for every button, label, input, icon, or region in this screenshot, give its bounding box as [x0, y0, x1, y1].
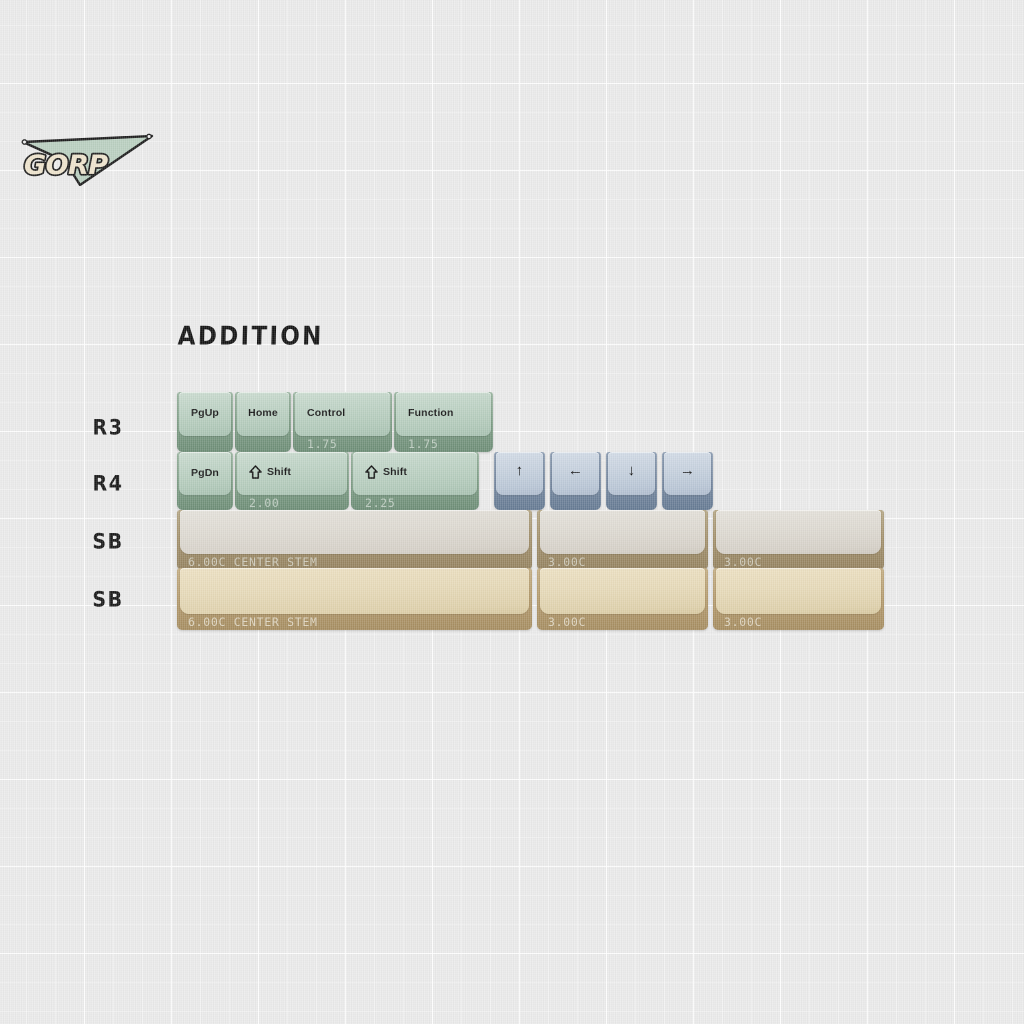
gorp-wordmark: GORP: [24, 150, 108, 181]
legend-text: Home: [248, 407, 278, 419]
keycap-size-label: 6.00C CENTER STEM: [188, 555, 318, 569]
keycap-top: [716, 510, 881, 554]
keycap-size-label: 1.75: [307, 437, 338, 451]
legend-text: Control: [307, 407, 345, 419]
keycap-pgup[interactable]: PgUp: [177, 392, 233, 452]
keycap-size-label: 1.75: [408, 437, 439, 451]
spacebar-white-3u-b[interactable]: 3.00C: [713, 510, 884, 570]
keycap-control[interactable]: Control 1.75: [293, 392, 392, 452]
spacebar-tan-3u-b[interactable]: 3.00C: [713, 568, 884, 630]
keycap-top: [716, 568, 881, 614]
spacebar-tan-3u-a[interactable]: 3.00C: [537, 568, 708, 630]
keycap-arrow-up[interactable]: ↑: [494, 452, 545, 510]
keycap-arrow-right[interactable]: →: [662, 452, 713, 510]
keycap-size-label: 3.00C: [548, 615, 586, 629]
legend-text: Function: [408, 407, 454, 419]
gorp-logo: GORP: [16, 124, 161, 186]
keycap-legend: Home: [235, 407, 291, 419]
keycap-top: [180, 510, 529, 554]
keycap-size-label: 3.00C: [724, 615, 762, 629]
keycap-legend: →: [662, 463, 713, 478]
row-label-sb2: SB: [78, 588, 138, 612]
spacebar-white-3u-a[interactable]: 3.00C: [537, 510, 708, 570]
spacebar-white-6u[interactable]: 6.00C CENTER STEM: [177, 510, 532, 570]
legend-text: Shift: [267, 466, 291, 478]
keycap-legend: Control: [307, 407, 345, 419]
keycap-home[interactable]: Home: [235, 392, 291, 452]
keycap-size-label: 2.25: [365, 496, 396, 510]
keycap-arrow-left[interactable]: ←: [550, 452, 601, 510]
arrow-left-icon: ←: [568, 463, 583, 478]
keycap-function[interactable]: Function 1.75: [394, 392, 493, 452]
keycap-shift-2u[interactable]: Shift 2.00: [235, 452, 349, 510]
shift-up-arrow-icon: [249, 465, 262, 479]
legend-text: PgUp: [191, 407, 219, 419]
keycap-legend: ↓: [606, 463, 657, 478]
keycap-size-label: 3.00C: [724, 555, 762, 569]
keycap-arrow-down[interactable]: ↓: [606, 452, 657, 510]
shift-up-arrow-icon: [365, 465, 378, 479]
keycap-legend: Shift: [249, 465, 291, 479]
keycap-legend: Function: [408, 407, 454, 419]
legend-text: Shift: [383, 466, 407, 478]
keycap-pgdn[interactable]: PgDn: [177, 452, 233, 510]
legend-text: PgDn: [191, 467, 219, 479]
row-label-r4: R4: [78, 472, 138, 496]
keycap-legend: ←: [550, 463, 601, 478]
keycap-legend: PgUp: [177, 407, 233, 419]
row-label-r3: R3: [78, 416, 138, 440]
keycap-top: [180, 568, 529, 614]
arrow-down-icon: ↓: [628, 463, 636, 478]
keycap-top: [540, 568, 705, 614]
arrow-up-icon: ↑: [516, 463, 524, 478]
keycap-top: [540, 510, 705, 554]
spacebar-tan-6u[interactable]: 6.00C CENTER STEM: [177, 568, 532, 630]
keycap-size-label: 6.00C CENTER STEM: [188, 615, 318, 629]
keycap-legend: ↑: [494, 463, 545, 478]
keycap-size-label: 2.00: [249, 496, 280, 510]
keycap-legend: Shift: [365, 465, 407, 479]
keycap-size-label: 3.00C: [548, 555, 586, 569]
keycap-legend: PgDn: [177, 467, 233, 479]
keycap-shift-225u[interactable]: Shift 2.25: [351, 452, 479, 510]
page-title: ADDITION: [177, 322, 324, 351]
row-label-sb1: SB: [78, 530, 138, 554]
arrow-right-icon: →: [680, 463, 695, 478]
